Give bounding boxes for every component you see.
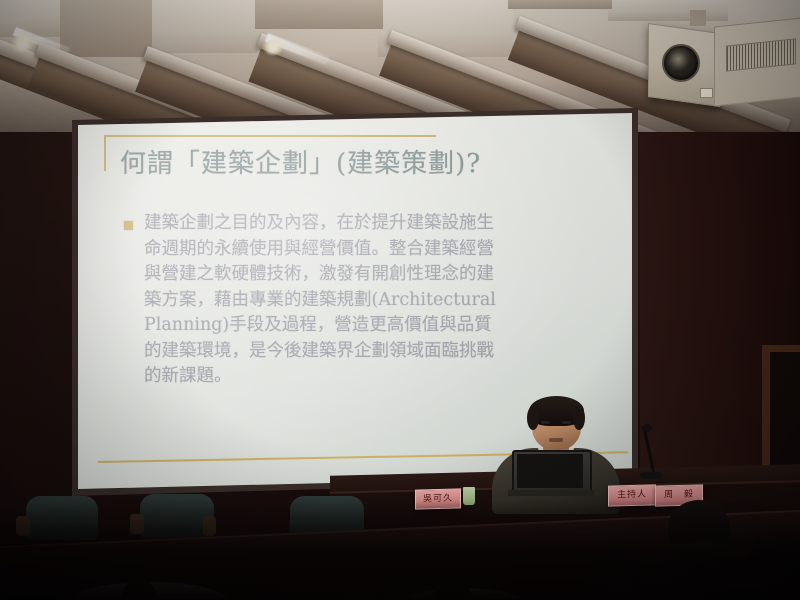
laptop-screen bbox=[517, 454, 583, 488]
speaker-eye bbox=[562, 421, 571, 424]
slide-bullet-marker bbox=[124, 221, 133, 230]
microphone-head bbox=[642, 424, 652, 432]
speaker-mouth bbox=[549, 438, 563, 442]
speaker-eye bbox=[541, 421, 550, 424]
laptop-base bbox=[508, 490, 594, 496]
projector-mount bbox=[690, 10, 706, 26]
speaker-hair-side bbox=[573, 406, 585, 430]
slide-body-line: 命週期的永續使用與經營價值。整合建築經營 bbox=[144, 237, 496, 263]
projector-indicator bbox=[700, 88, 713, 98]
auditorium-photo: 何謂「建築企劃」(建築策劃)? 建築企劃之目的及內容，在於提升建築設施生 命週期… bbox=[0, 0, 800, 600]
slide-body-text: 建築企劃之目的及內容，在於提升建築設施生 命週期的永續使用與經營價值。整合建築經… bbox=[144, 211, 496, 390]
speaker-hair-side bbox=[527, 406, 539, 430]
foreground-shadow bbox=[0, 500, 800, 600]
slide-body-line: 的建築環境，是今後建築界企劃領域面臨挑戰 bbox=[144, 339, 496, 365]
slide-body-line: 築方案，藉由專業的建築規劃(Architectural bbox=[144, 288, 496, 314]
moderator-name-text: 周 毅 bbox=[664, 491, 694, 501]
slide-body-line: 的新課題。 bbox=[144, 364, 496, 390]
slide-title: 何謂「建築企劃」(建築策劃)? bbox=[120, 143, 481, 180]
slide-body-line: Planning)手段及過程，營造更高價值與品質 bbox=[144, 313, 496, 339]
slide-body-line: 建築企劃之目的及內容，在於提升建築設施生 bbox=[144, 211, 496, 237]
slide-body-line: 與營建之軟硬體技術，激發有開創性理念的建 bbox=[144, 262, 496, 288]
projector-lens-inner bbox=[670, 52, 688, 70]
moderator-role-text: 主持人 bbox=[617, 491, 647, 501]
microphone-base bbox=[640, 472, 662, 479]
